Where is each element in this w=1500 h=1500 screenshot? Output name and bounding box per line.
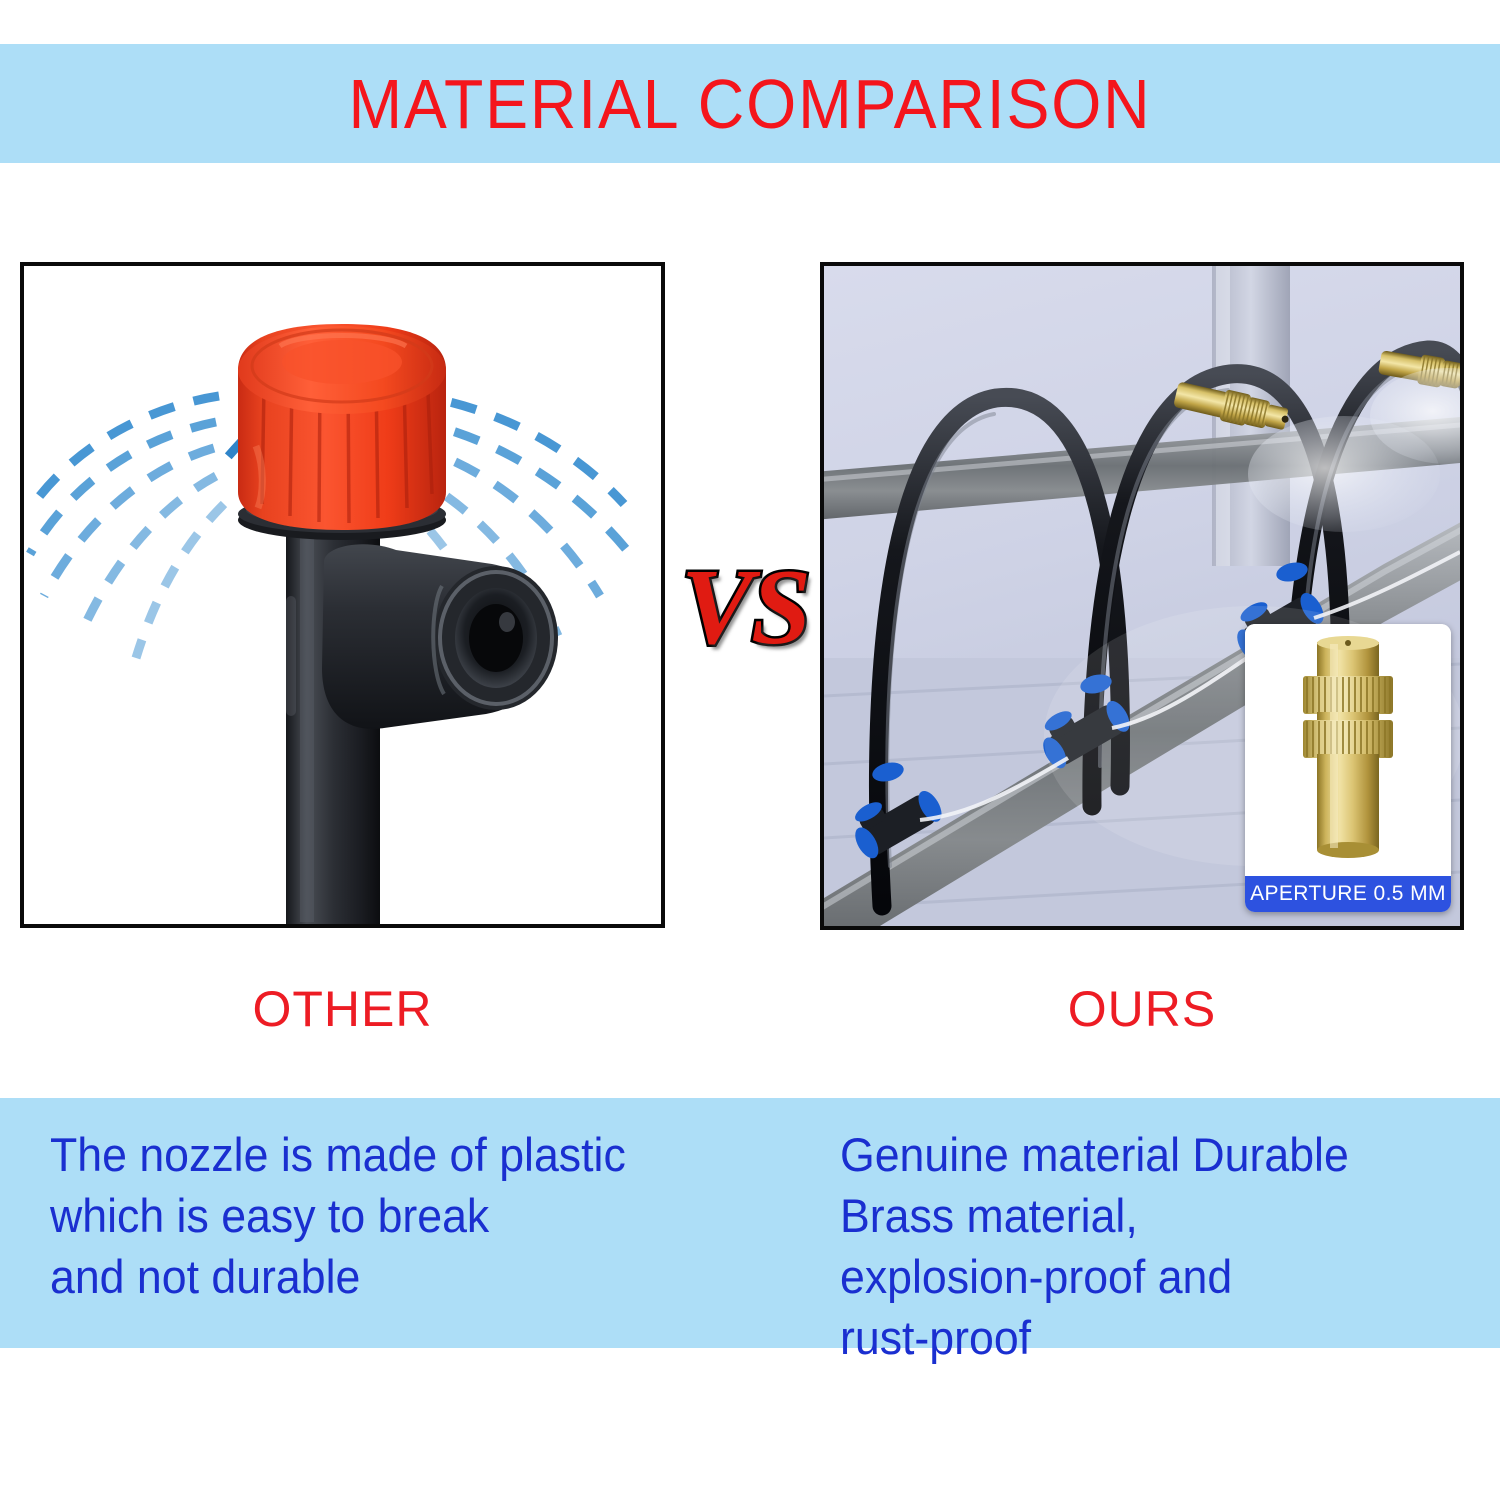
brass-nozzle-closeup <box>1245 624 1451 876</box>
vs-label: VS <box>681 554 809 662</box>
plastic-sprinkler-illustration <box>24 266 661 924</box>
our-product-panel: APERTURE 0.5 MM <box>820 262 1464 930</box>
aperture-inset-card: APERTURE 0.5 MM <box>1245 624 1451 912</box>
vs-badge: VS <box>660 548 830 668</box>
title-banner: MATERIAL COMPARISON <box>0 44 1500 163</box>
infographic-canvas: MATERIAL COMPARISON <box>0 0 1500 1500</box>
description-band: The nozzle is made of plastic which is e… <box>0 1098 1500 1348</box>
aperture-label: APERTURE 0.5 MM <box>1245 876 1451 912</box>
other-product-panel <box>20 262 665 928</box>
label-ours: OURS <box>820 980 1464 1038</box>
other-description: The nozzle is made of plastic which is e… <box>50 1124 715 1307</box>
other-product-photo <box>24 266 661 924</box>
label-other: OTHER <box>20 980 665 1038</box>
page-title: MATERIAL COMPARISON <box>60 44 1440 163</box>
ours-description: Genuine material Durable Brass material,… <box>840 1124 1448 1368</box>
